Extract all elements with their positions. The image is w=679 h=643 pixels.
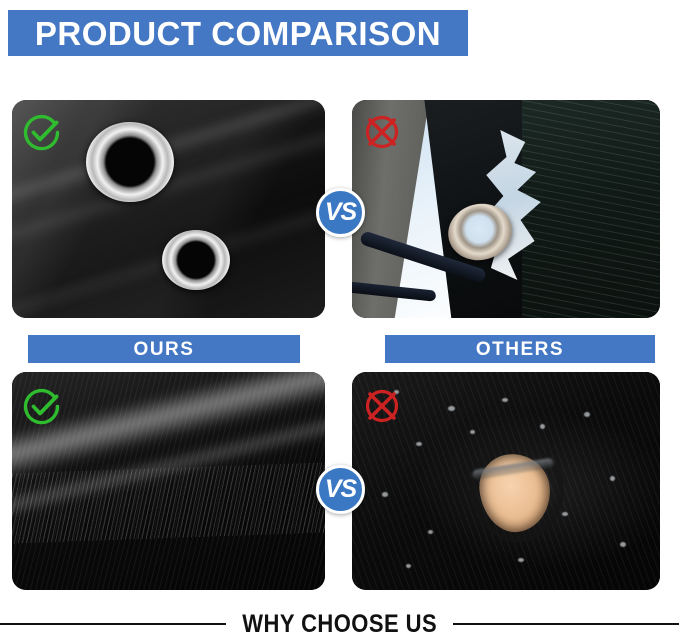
page-title-banner: PRODUCT COMPARISON <box>8 10 468 56</box>
page-title: PRODUCT COMPARISON <box>35 17 441 50</box>
label-bar-ours: OURS <box>28 335 300 363</box>
vs-badge-bottom: VS <box>316 465 365 514</box>
grommet-reinforced-icon <box>86 122 174 202</box>
infographic-root: PRODUCT COMPARISON <box>0 0 679 643</box>
vs-label: VS <box>325 200 356 225</box>
grommet-reinforced-icon <box>162 230 230 290</box>
footer-rule-left <box>0 623 226 625</box>
others-label: OTHERS <box>476 340 564 359</box>
vs-label: VS <box>325 477 356 502</box>
footer-title: WHY CHOOSE US <box>239 612 439 637</box>
ours-label: OURS <box>134 340 195 359</box>
vs-badge-top: VS <box>316 188 365 237</box>
footer-banner: WHY CHOOSE US <box>0 610 679 638</box>
green-check-circle-icon <box>22 386 62 426</box>
red-x-circle-icon <box>362 386 402 426</box>
green-check-circle-icon <box>22 112 62 152</box>
label-bar-others: OTHERS <box>385 335 655 363</box>
red-x-circle-icon <box>362 112 402 152</box>
footer-rule-right <box>453 623 679 625</box>
